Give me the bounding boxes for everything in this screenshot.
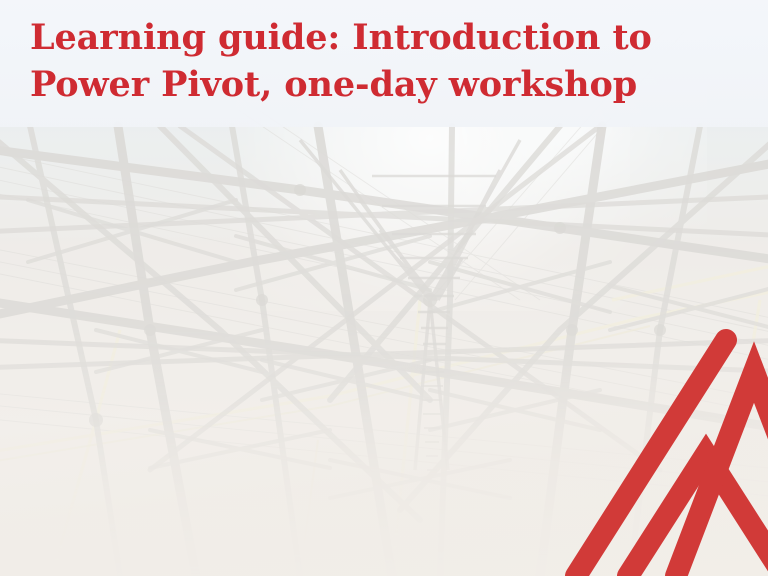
slide-canvas: Learning guide: Introduction to Power Pi…	[0, 0, 768, 576]
title-band: Learning guide: Introduction to Power Pi…	[0, 0, 768, 127]
chevron-logo	[558, 326, 768, 576]
page-title: Learning guide: Introduction to Power Pi…	[30, 14, 730, 108]
